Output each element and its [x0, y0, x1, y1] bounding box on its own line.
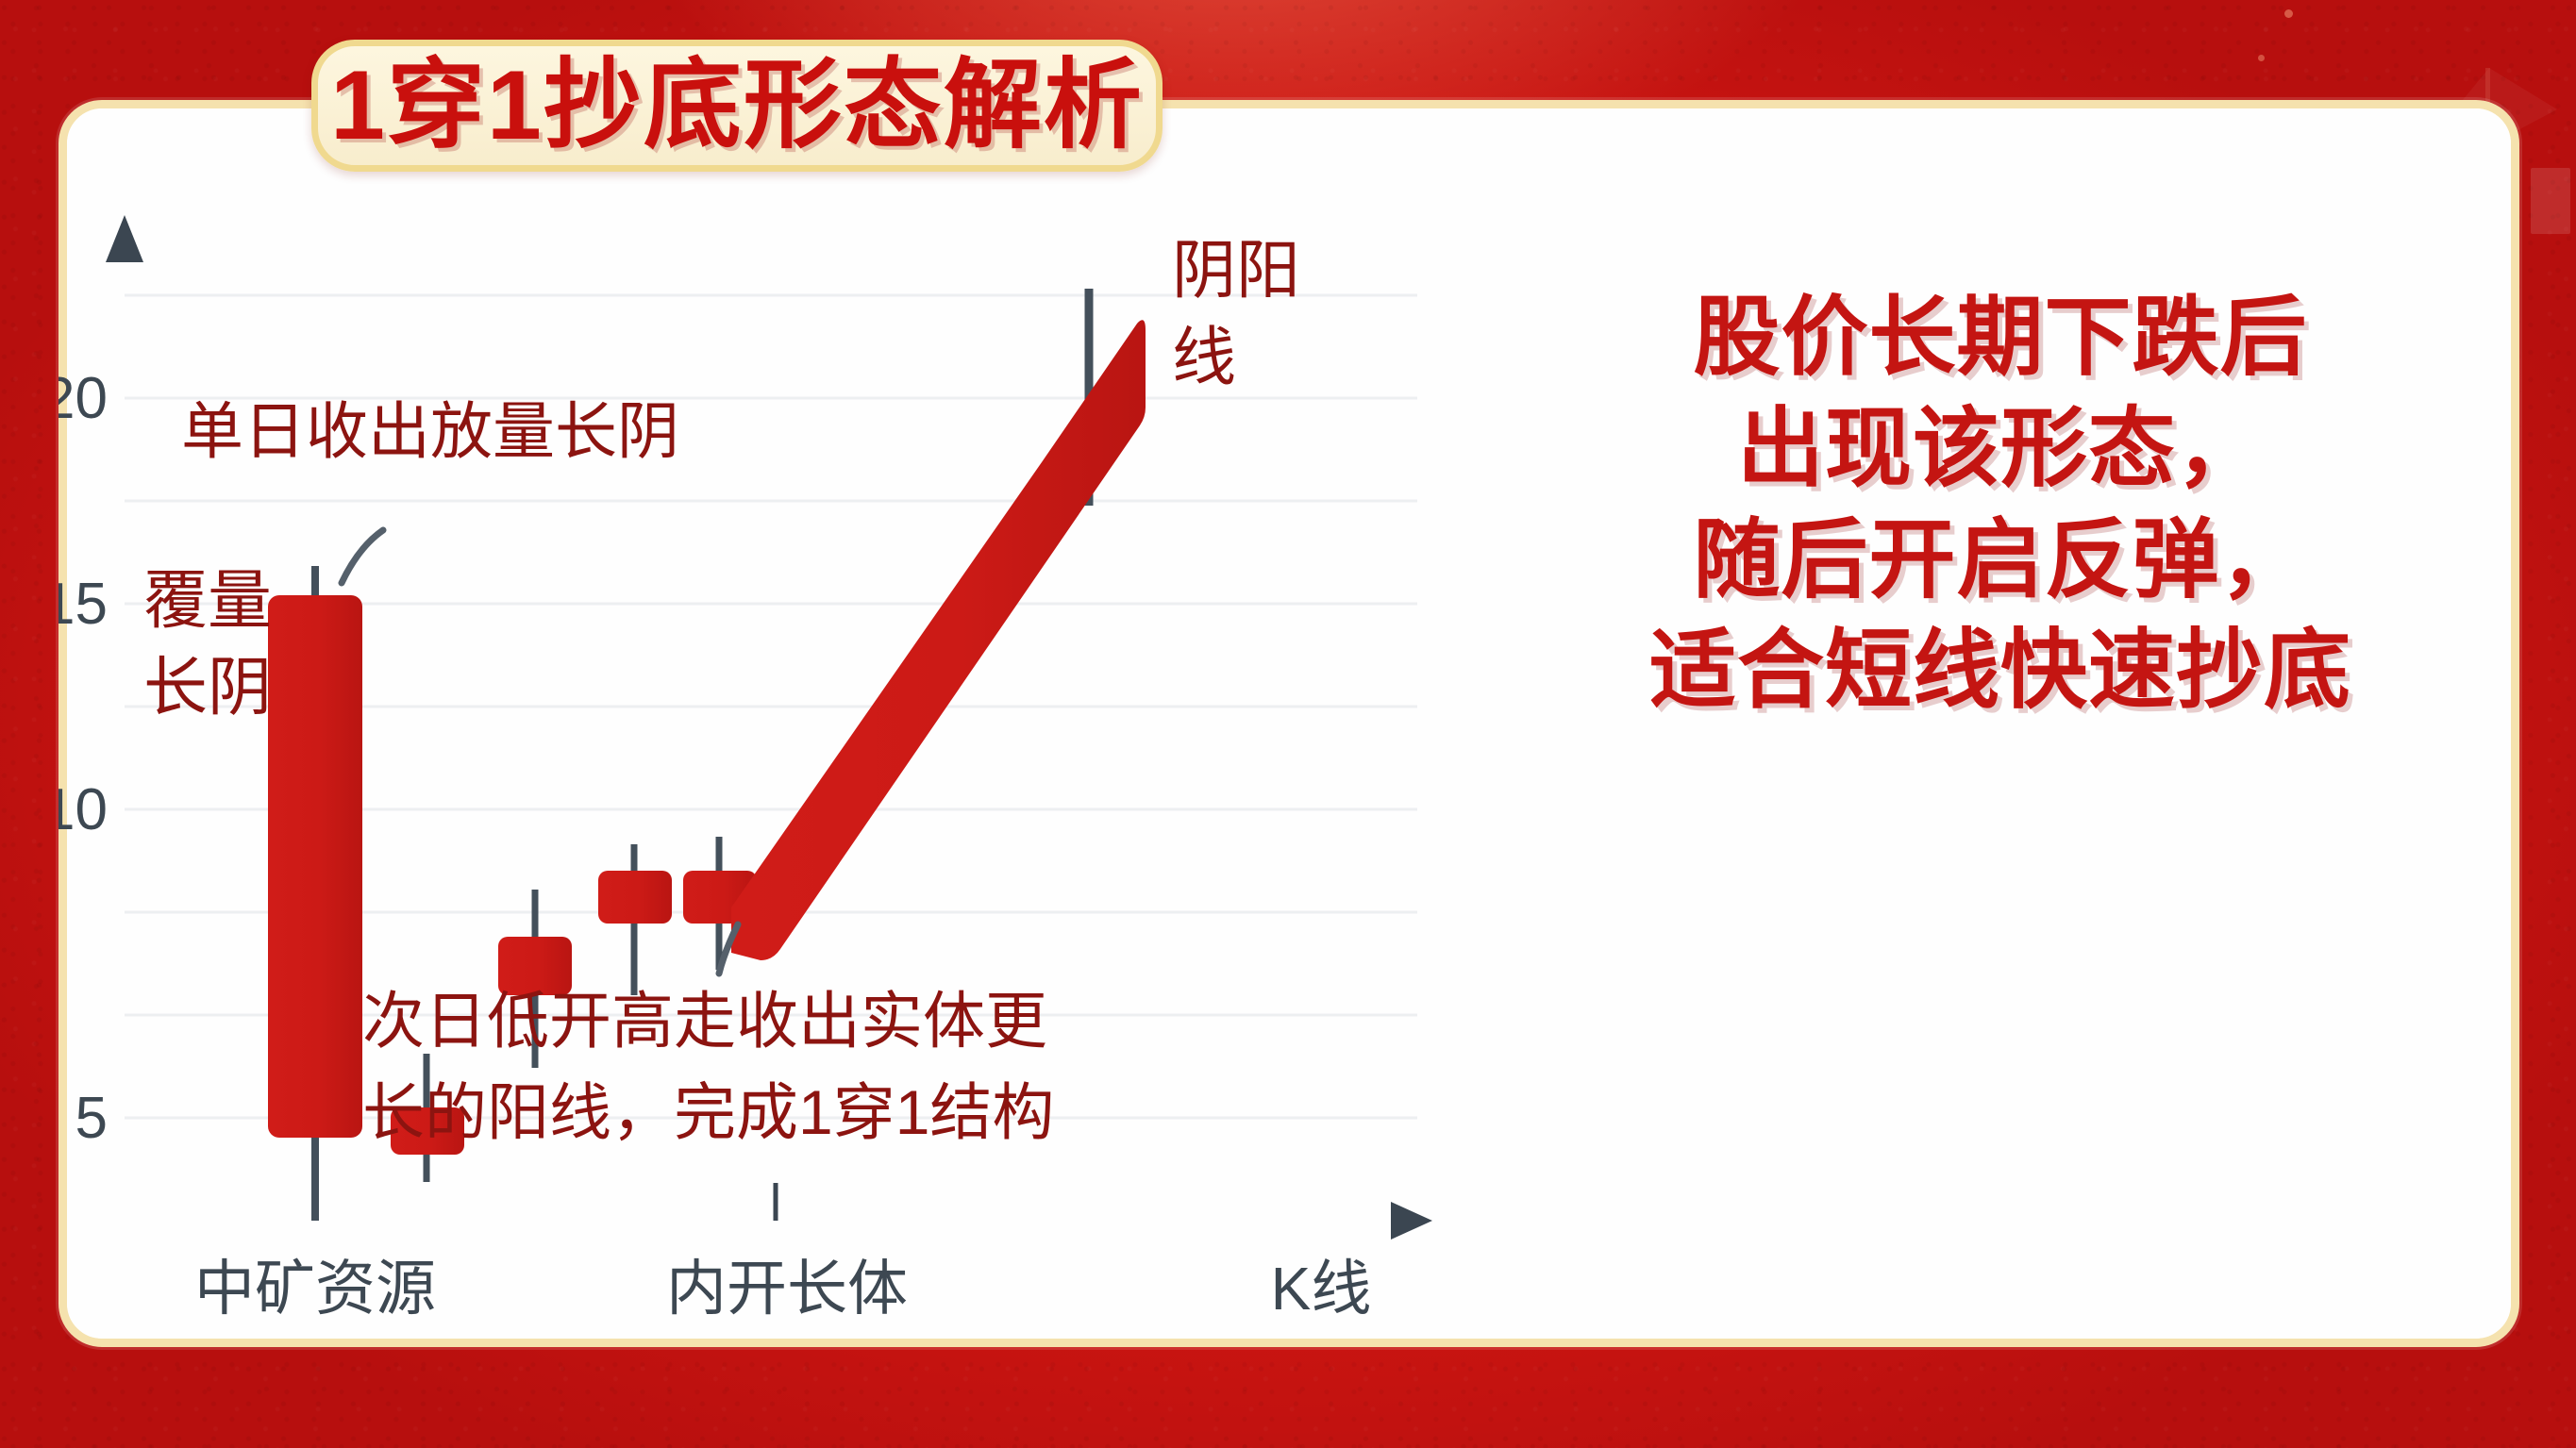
- title-banner: 1穿1抄底形态解析: [311, 40, 1163, 172]
- candle-small-3: [598, 844, 672, 995]
- x-tick-marks: [315, 1183, 776, 1221]
- annotation-yin-yang-line2: 线: [1172, 322, 1236, 393]
- candle-yin-yang-line: [731, 289, 1146, 960]
- y-tick-labels: 5 10 15 20: [59, 366, 108, 1151]
- candle-cover-volume: [268, 566, 362, 1221]
- y-axis: [106, 215, 143, 1221]
- x-tick-label-2: K线: [1271, 1255, 1372, 1323]
- annotation-next-day-line1: 次日低开高走收出实体更: [362, 986, 1047, 1056]
- y-tick-15: 15: [59, 572, 108, 637]
- x-tick-labels: 中矿资源 内开长体 K线: [194, 1255, 1371, 1323]
- page-title: 1穿1抄底形态解析: [330, 57, 1144, 155]
- right-text-line-0: 股价长期下跌后: [1519, 283, 2482, 394]
- y-tick-20: 20: [59, 366, 108, 431]
- annotation-leader-line-1: [342, 530, 383, 583]
- candlestick-chart: 5 10 15 20 中矿资源 内开长体 K线: [59, 170, 1493, 1349]
- annotation-single-day: 单日收出放量长阴: [181, 396, 679, 466]
- y-tick-5: 5: [75, 1086, 108, 1151]
- annotation-cover-volume-line2: 长阴: [143, 652, 272, 724]
- right-text-line-3: 适合短线快速抄底: [1519, 616, 2482, 727]
- x-tick-label-0: 中矿资源: [194, 1255, 436, 1323]
- chart-svg: 5 10 15 20 中矿资源 内开长体 K线: [59, 170, 1493, 1349]
- annotation-cover-volume-line1: 覆量: [143, 565, 272, 637]
- y-tick-10: 10: [59, 777, 108, 842]
- x-tick-label-1: 内开长体: [666, 1255, 908, 1323]
- right-text-line-1: 出现该形态，: [1519, 394, 2482, 506]
- annotation-next-day-line2: 长的阳线，完成1穿1结构: [362, 1077, 1054, 1147]
- annotation-yin-yang-line1: 阴阳: [1172, 235, 1300, 307]
- right-text-line-2: 随后开启反弹，: [1519, 506, 2482, 617]
- right-text-block: 股价长期下跌后 出现该形态， 随后开启反弹， 适合短线快速抄底: [1519, 283, 2482, 727]
